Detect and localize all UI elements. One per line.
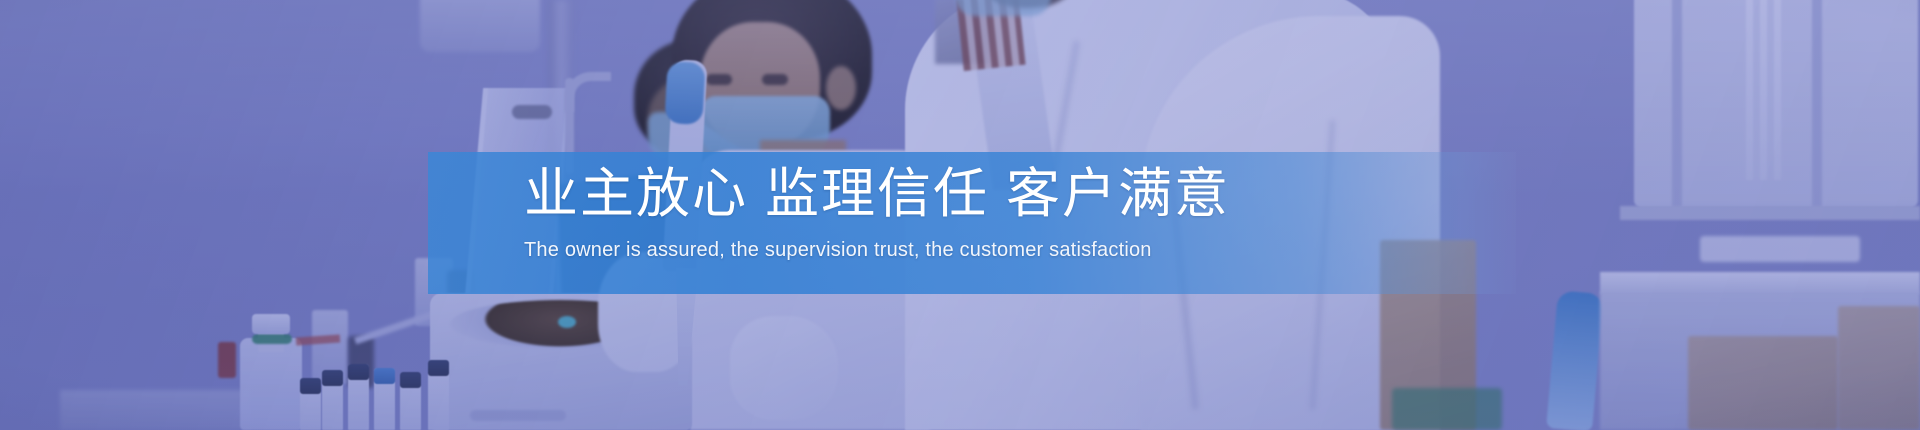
slogan-overlay-inner: 业主放心 监理信任 客户满意 The owner is assured, the… (428, 152, 1516, 294)
slogan-subline: The owner is assured, the supervision tr… (524, 236, 1152, 264)
hero-banner: 业主放心 监理信任 客户满意 The owner is assured, the… (0, 0, 1920, 430)
slogan-overlay-bar: 业主放心 监理信任 客户满意 The owner is assured, the… (428, 152, 1516, 294)
slogan-headline: 业主放心 监理信任 客户满意 (524, 158, 1230, 230)
